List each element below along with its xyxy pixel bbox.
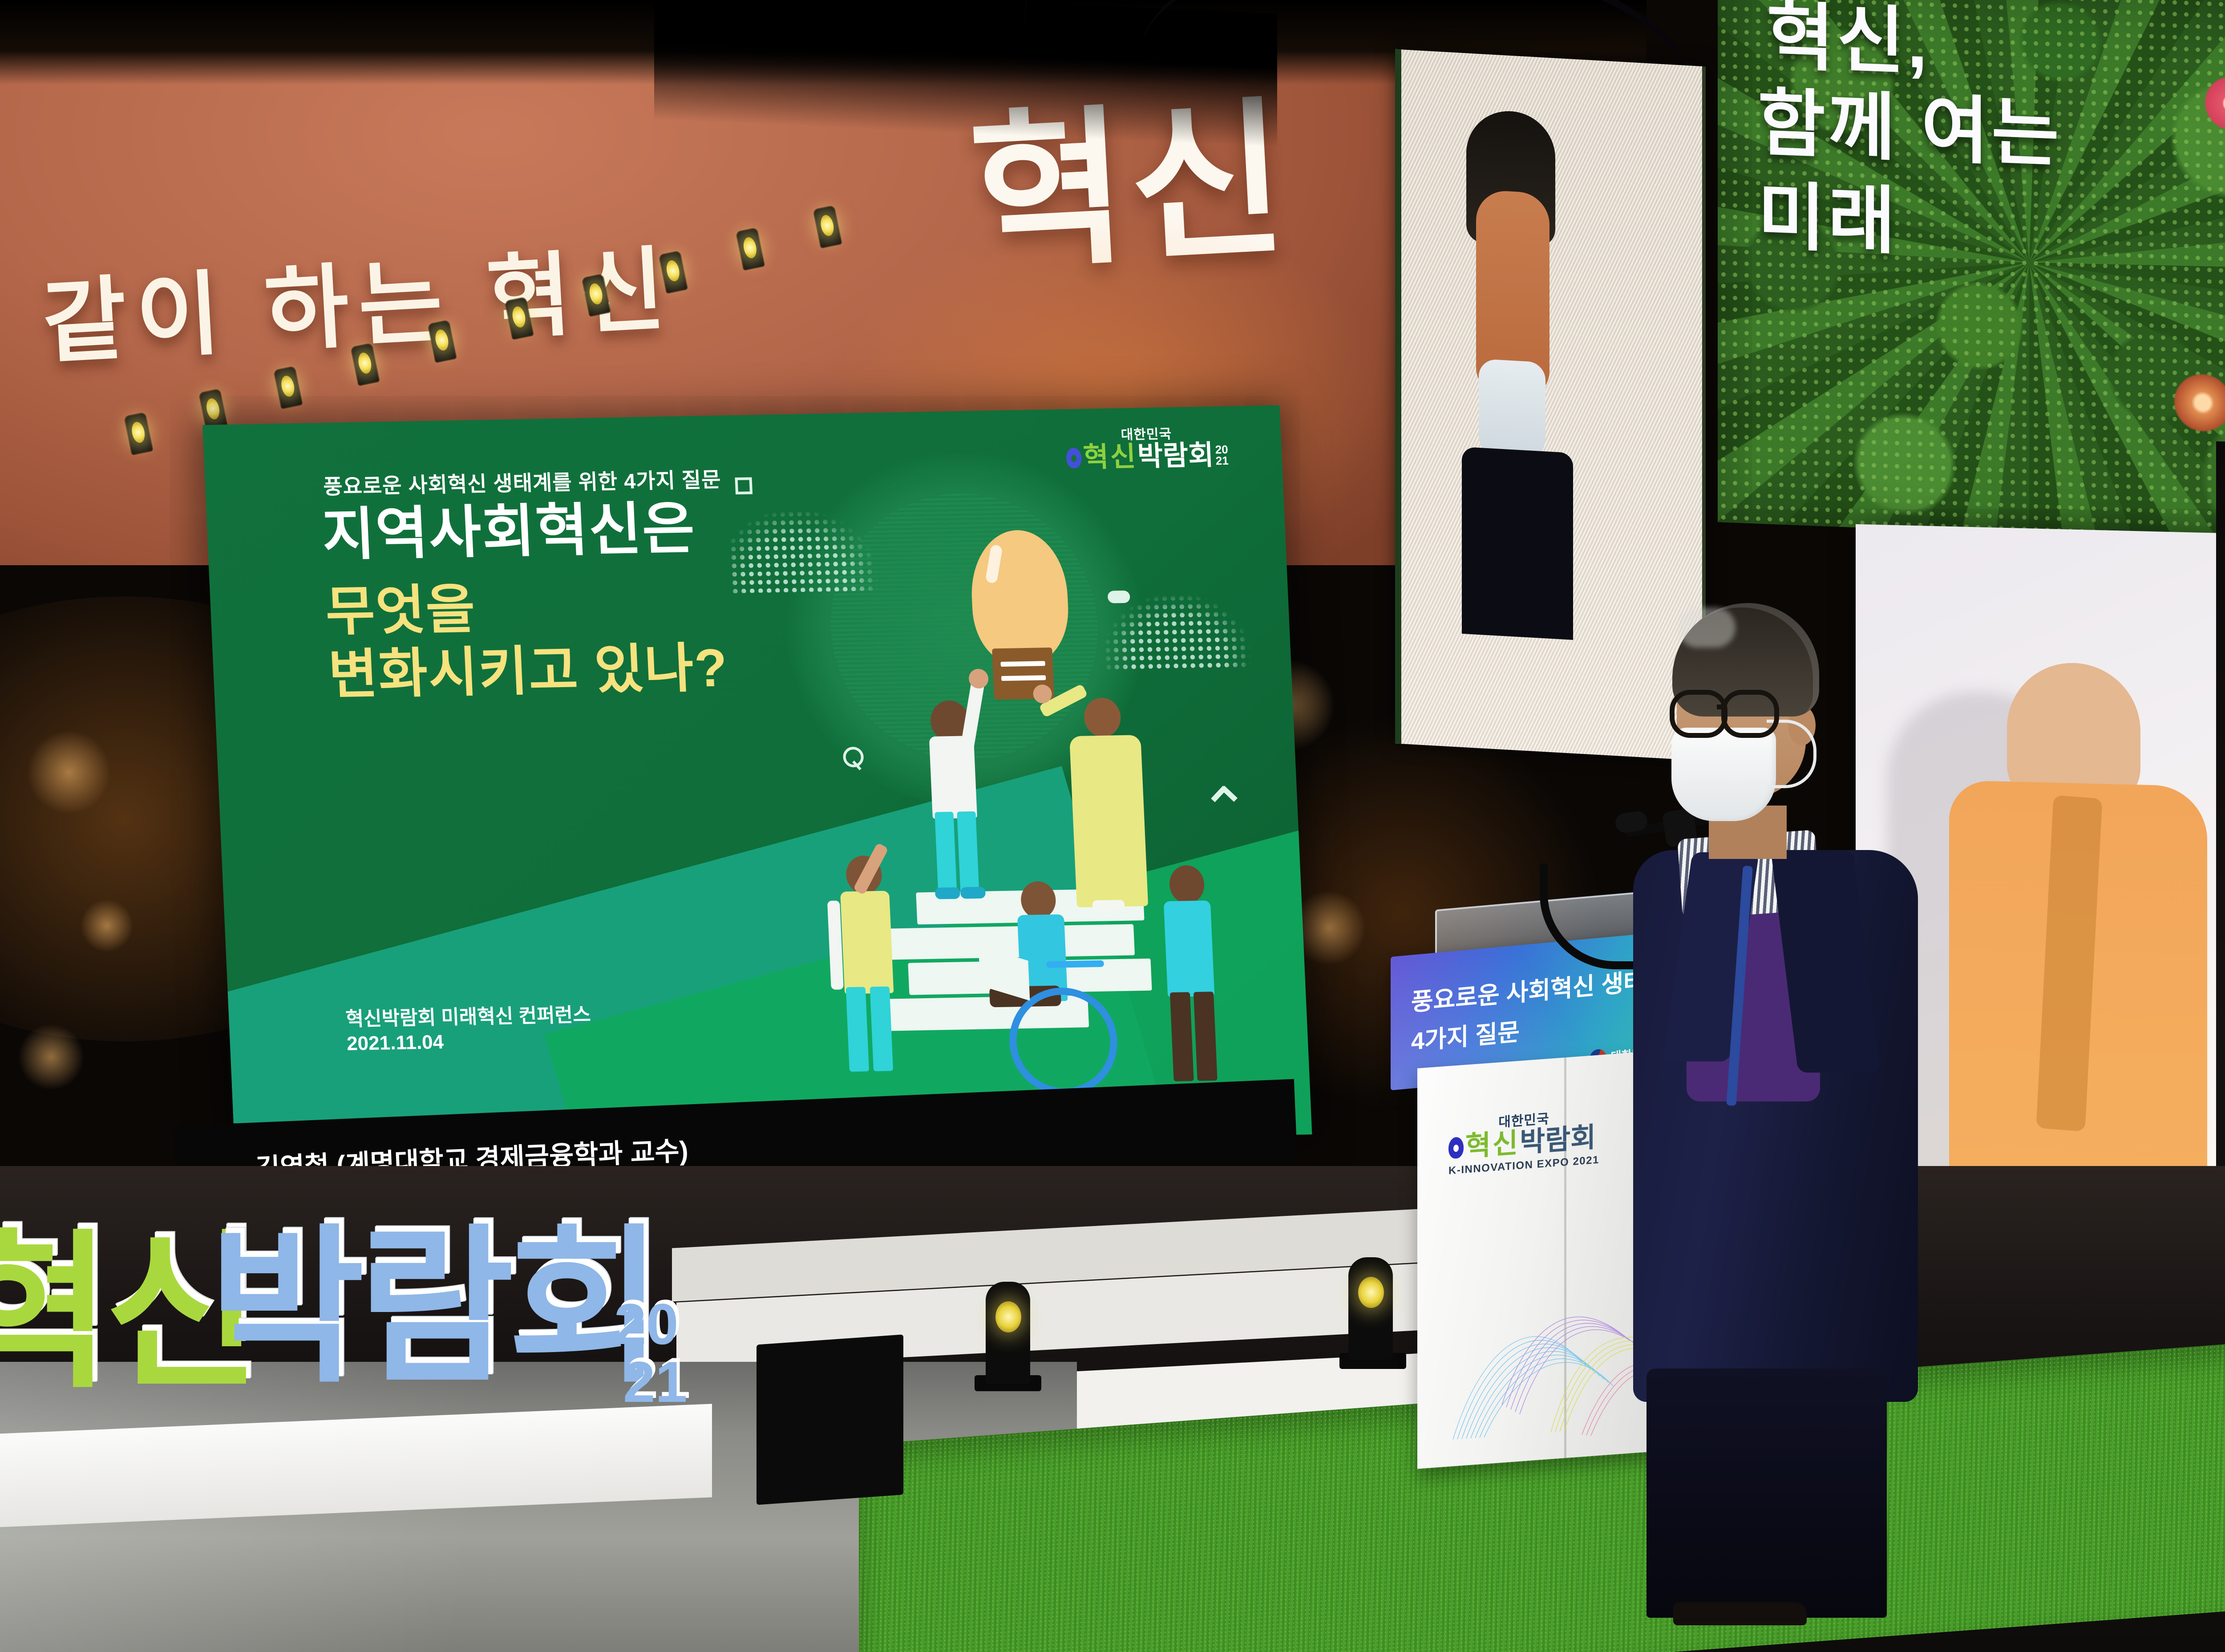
- slide-headline-yellow-2: 변화시키고 있나?: [327, 636, 729, 707]
- foam-letter-sign: 혁신 박람회 20 21: [0, 1211, 739, 1513]
- feed-suit: [1462, 447, 1573, 640]
- halftone-cloud: [1101, 593, 1251, 673]
- moving-head-light: [986, 1282, 1030, 1384]
- slide-headline-white: 지역사회혁신은: [321, 498, 697, 566]
- square-icon: [735, 477, 752, 494]
- halftone-cloud: [728, 508, 878, 593]
- stage-lamp: [736, 228, 764, 270]
- floor-speaker-box: [756, 1334, 903, 1505]
- foam-letters-blue: 박람회: [209, 1223, 657, 1392]
- slide-illustration: [717, 459, 1276, 1038]
- podium-logo-part1: 혁: [1465, 1131, 1491, 1161]
- stage-lamp: [813, 206, 841, 247]
- live-camera-feed: [1466, 109, 1560, 626]
- logo-dot-icon: [1066, 448, 1082, 469]
- stage-lamp: [659, 251, 687, 293]
- foam-year-top: 20: [614, 1295, 679, 1353]
- chevron-up-icon: [1221, 786, 1238, 802]
- moving-head-light: [1348, 1257, 1393, 1360]
- foam-year-bottom: 21: [623, 1353, 688, 1411]
- slide-headline-yellow-1: 무엇을: [324, 578, 477, 644]
- podium-logo-part2: 신: [1493, 1130, 1518, 1159]
- foam-sign-plinth: [0, 1404, 712, 1529]
- slide-logo-wordmark: 혁 신 박람회 20 21: [1066, 441, 1229, 472]
- slide-expo-logo: 대한민국 혁 신 박람회 20 21: [1065, 422, 1229, 472]
- podium-sign-line2: 4가지 질문: [1411, 1012, 1520, 1057]
- illustration-step: [884, 924, 1135, 960]
- speaker-person: [1620, 603, 1949, 1622]
- eyeglasses-left-lens: [1670, 690, 1727, 738]
- speaker-trousers: [1646, 1369, 1887, 1618]
- lightbulb-icon: [969, 529, 1070, 664]
- speaker-hair-grey: [1678, 607, 1735, 648]
- led-column-edge: [1395, 49, 1401, 744]
- slide-footer-date: 2021.11.04: [346, 1031, 444, 1055]
- presentation-slide: 풍요로운 사회혁신 생태계를 위한 4가지 질문 지역사회혁신은 무엇을 변화시…: [202, 405, 1312, 1154]
- slide-logo-year-bottom: 21: [1215, 455, 1229, 466]
- face-mask-icon: [1671, 728, 1776, 821]
- eyeglasses-bridge: [1717, 705, 1727, 709]
- stage-lamp: [428, 320, 456, 362]
- logo-dot-icon: [1448, 1137, 1464, 1159]
- green-plant-wall: 혁신, 함께 여는 미래: [1718, 0, 2225, 546]
- stage-lamp: [274, 367, 302, 408]
- search-icon: [843, 747, 864, 768]
- cloud-icon: [1108, 591, 1130, 603]
- slide-logo-part2: 신: [1110, 443, 1137, 471]
- stage-lamp: [505, 297, 533, 339]
- bokeh-light: [80, 899, 133, 952]
- bokeh-light: [27, 730, 111, 814]
- podium-logo-part3: 박람회: [1520, 1124, 1596, 1157]
- stage-photo: 혁신 같이 하는 혁신: [0, 0, 2225, 1652]
- eyeglasses-right-lens: [1721, 690, 1779, 738]
- plant-wall-line3: 미래: [1758, 157, 1898, 268]
- slide-logo-year: 20 21: [1215, 444, 1229, 466]
- slide-logo-part3: 박람회: [1137, 441, 1214, 470]
- stage-lamp: [351, 344, 379, 385]
- podium-expo-logo: 대한민국 혁 신 박람회 K-INNOVATION EXPO 2021: [1448, 1104, 1599, 1178]
- speaker-shoe: [1673, 1602, 1807, 1625]
- slide-footer-event: 혁신박람회 미래혁신 컨퍼런스: [345, 999, 591, 1032]
- stage-lamp: [583, 275, 610, 316]
- bokeh-light: [18, 1024, 85, 1090]
- slide-logo-part1: 혁: [1083, 444, 1109, 472]
